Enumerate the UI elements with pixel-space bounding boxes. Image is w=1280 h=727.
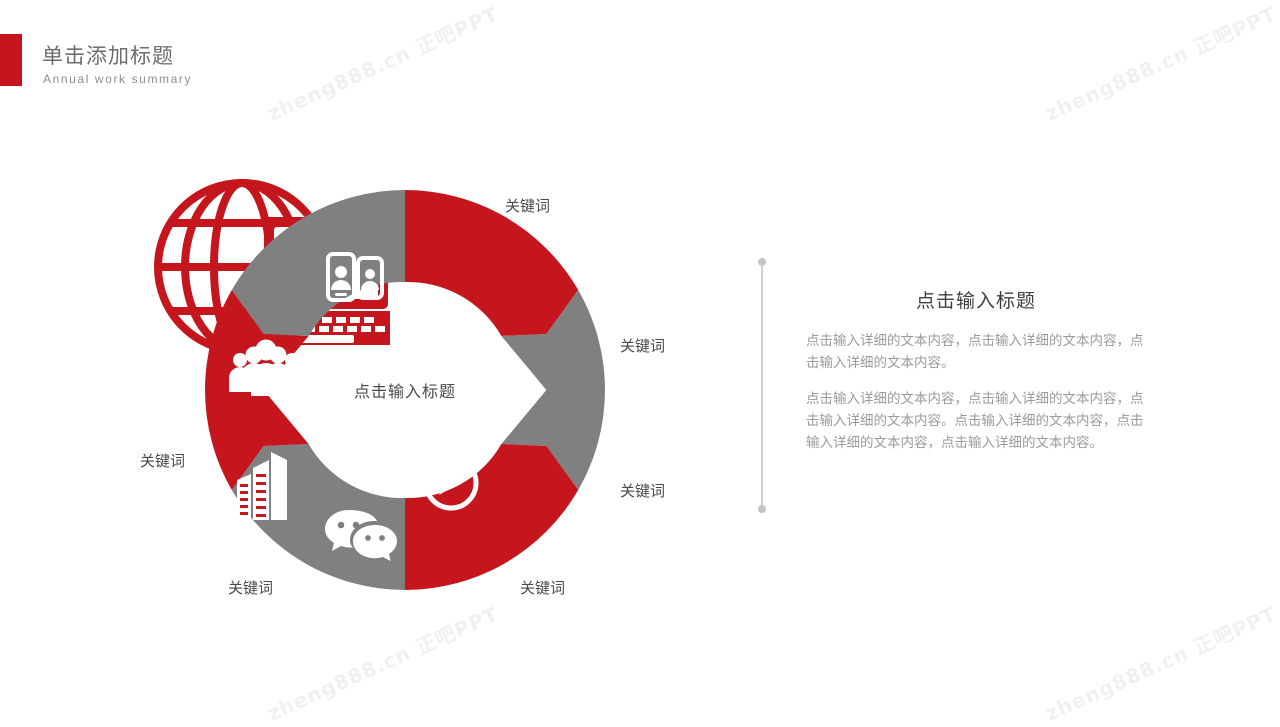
panel-title: 点击输入标题 <box>806 286 1146 313</box>
panel-paragraph-1: 点击输入详细的文本内容，点击输入详细的文本内容，点击输入详细的文本内容。 <box>806 330 1146 374</box>
watermark: zheng888.cn 正吧PPT <box>262 0 503 126</box>
rail-dot-bottom <box>758 505 766 513</box>
diagram-center-text: 点击输入标题 <box>354 378 456 402</box>
watermark: zheng888.cn 正吧PPT <box>1040 0 1280 126</box>
watermark: zheng888.cn 正吧PPT <box>1040 598 1280 726</box>
cycle-diagram: 点击输入标题 关键词 关键词 关键词 关键词 关键词 关键词 <box>150 165 670 620</box>
content-panel: 点击输入标题 点击输入详细的文本内容，点击输入详细的文本内容，点击输入详细的文本… <box>758 258 1158 523</box>
keyword-label-2: 关键词 <box>620 335 665 356</box>
header-accent-bar <box>0 34 22 86</box>
page-title: 单击添加标题 <box>42 40 174 70</box>
diagram-center-label: 点击输入标题 <box>205 190 605 590</box>
keyword-label-1: 关键词 <box>505 195 550 216</box>
panel-rail <box>758 258 766 513</box>
rail-line <box>761 264 763 508</box>
page-subtitle: Annual work summary <box>43 72 192 86</box>
keyword-label-6: 关键词 <box>140 450 185 471</box>
keyword-label-5: 关键词 <box>228 577 273 598</box>
keyword-label-4: 关键词 <box>520 577 565 598</box>
panel-paragraph-2: 点击输入详细的文本内容，点击输入详细的文本内容，点击输入详细的文本内容。点击输入… <box>806 388 1146 454</box>
keyword-label-3: 关键词 <box>620 480 665 501</box>
